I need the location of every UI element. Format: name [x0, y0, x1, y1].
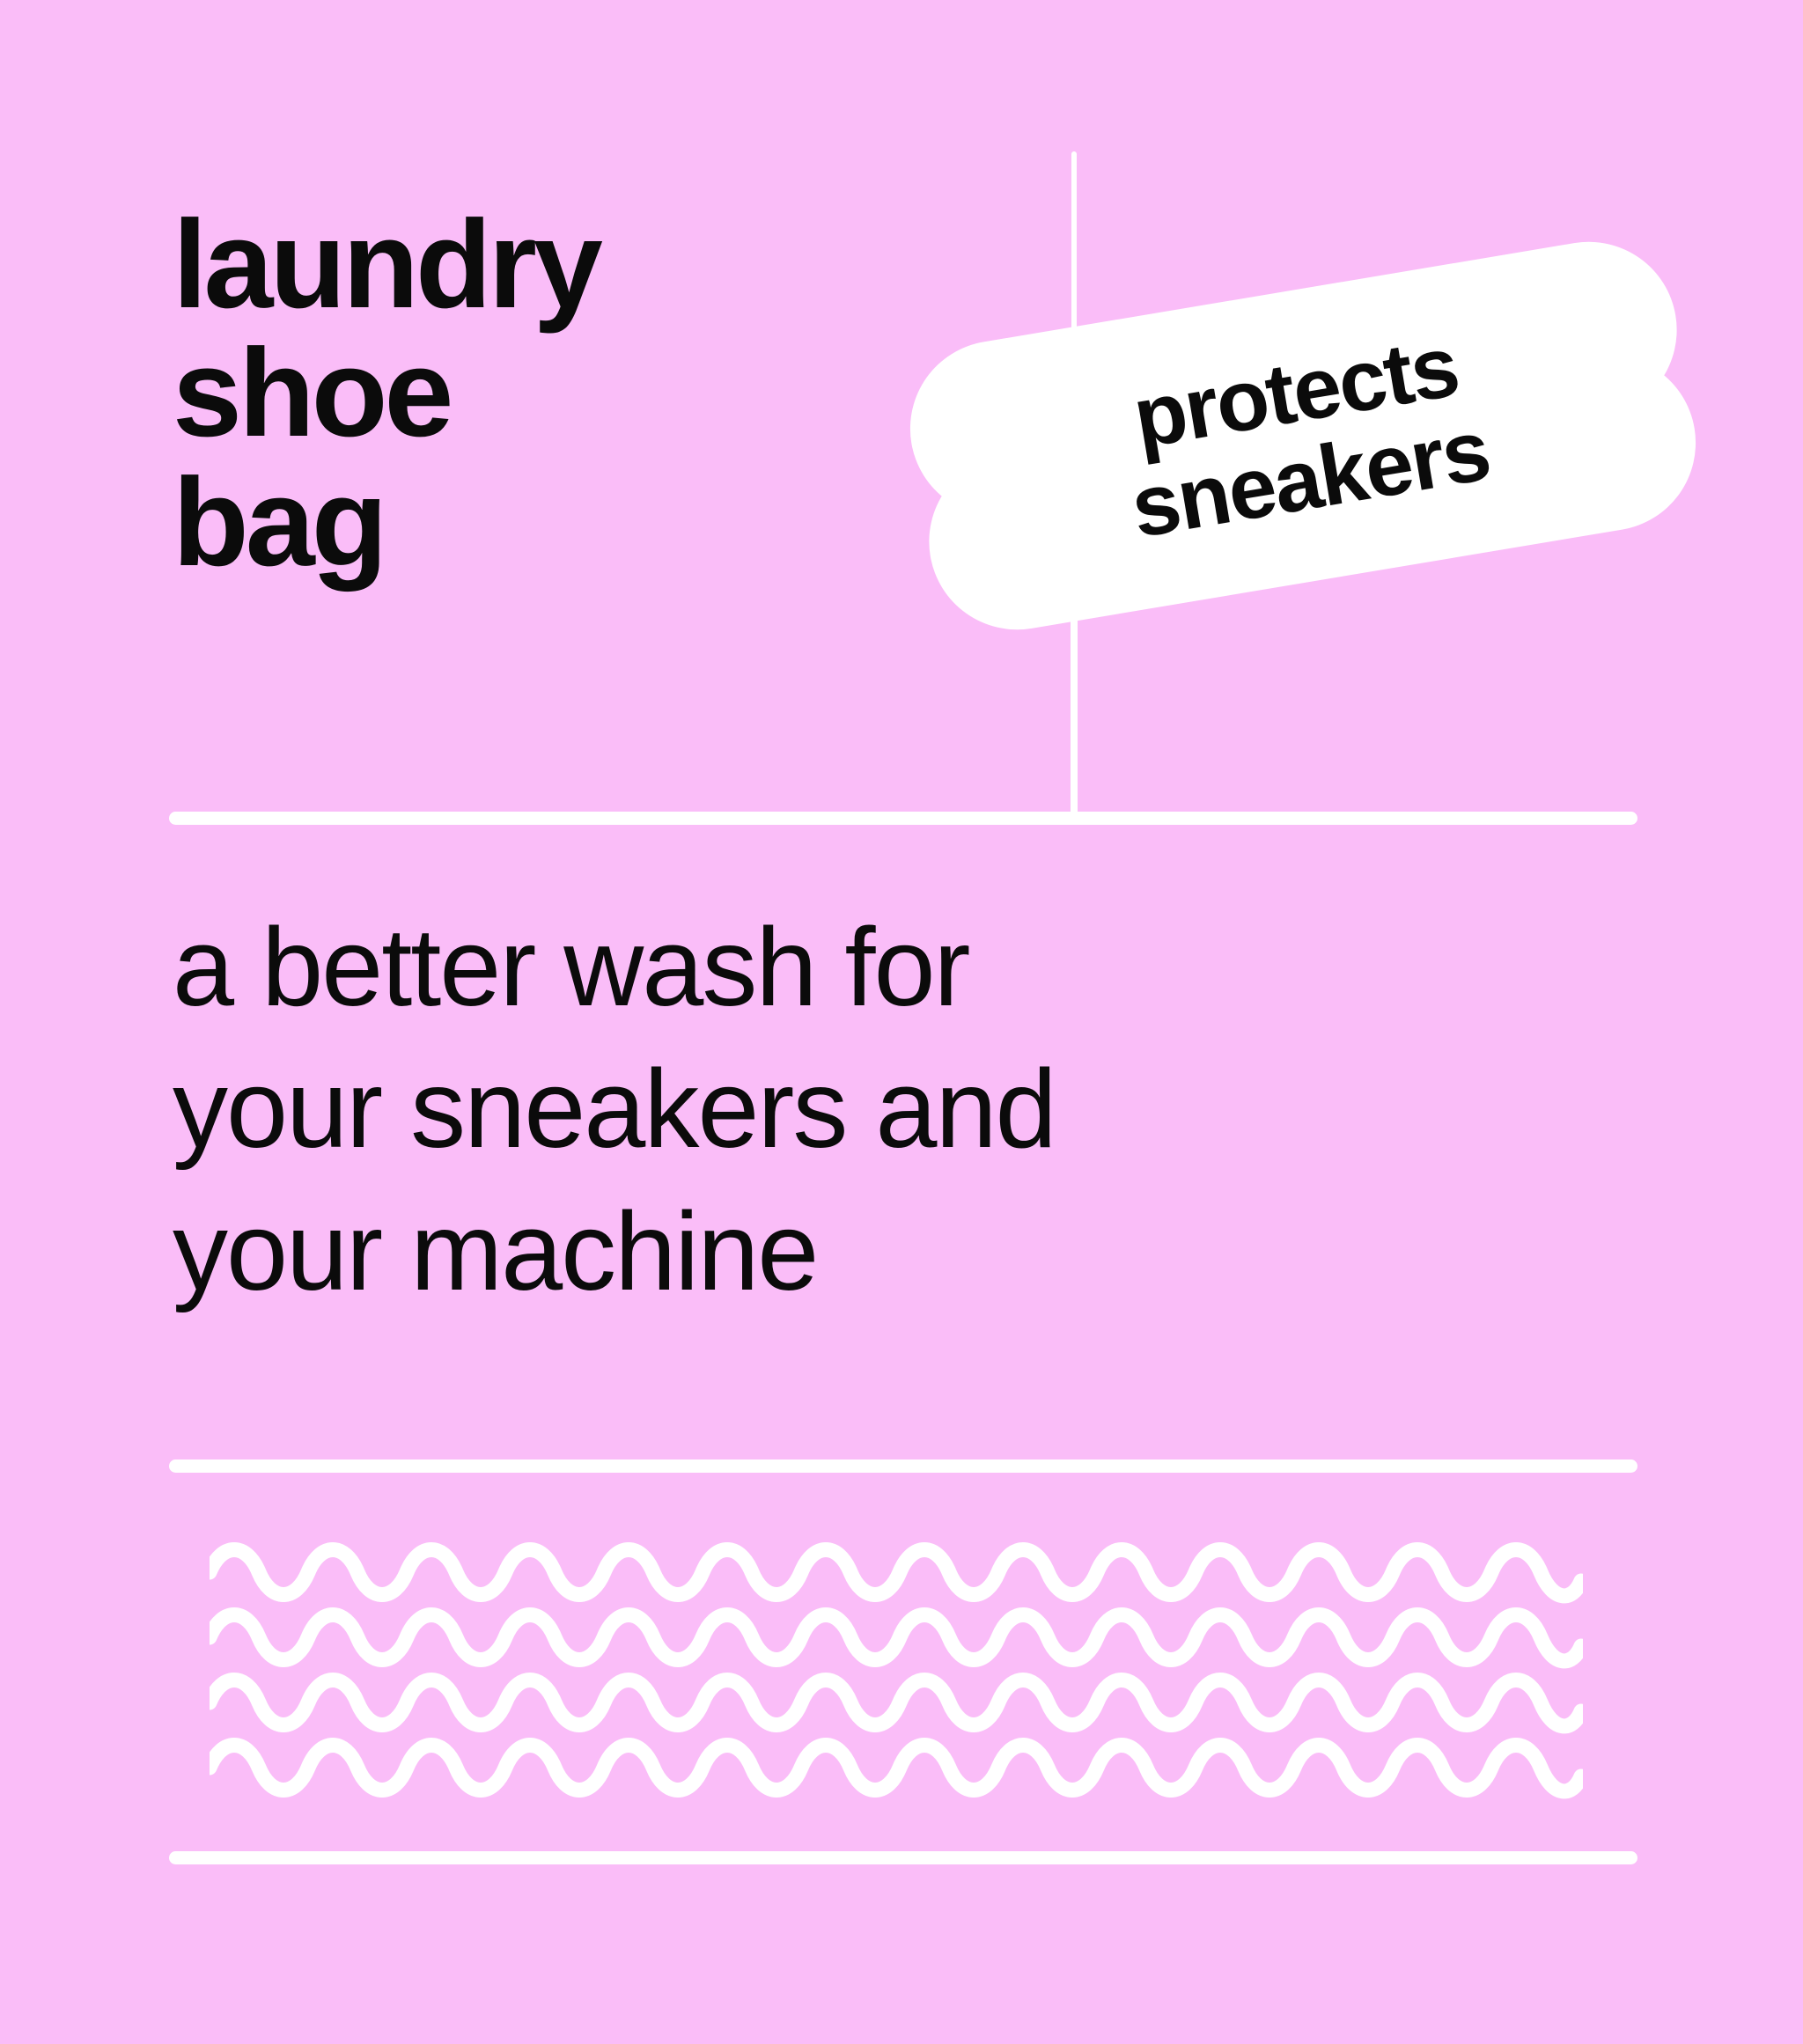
- headline-line-2: shoe: [173, 329, 965, 458]
- divider-bottom: [169, 1851, 1637, 1864]
- status-badge: protects sneakers: [897, 229, 1709, 643]
- poster-canvas: laundry shoe bag protects sneakers a bet…: [0, 0, 1803, 2044]
- body-line-2: your sneakers and: [173, 1038, 1493, 1180]
- divider-top: [169, 812, 1637, 825]
- wave-pattern-icon: [210, 1542, 1583, 1803]
- divider-middle: [169, 1459, 1637, 1473]
- body-line-3: your machine: [173, 1180, 1493, 1322]
- headline-line-1: laundry: [173, 201, 965, 329]
- headline-line-3: bag: [173, 459, 965, 587]
- badge-label: protects sneakers: [897, 229, 1709, 643]
- page-title: laundry shoe bag: [173, 201, 965, 587]
- body-copy: a better wash for your sneakers and your…: [173, 896, 1493, 1322]
- body-line-1: a better wash for: [173, 896, 1493, 1038]
